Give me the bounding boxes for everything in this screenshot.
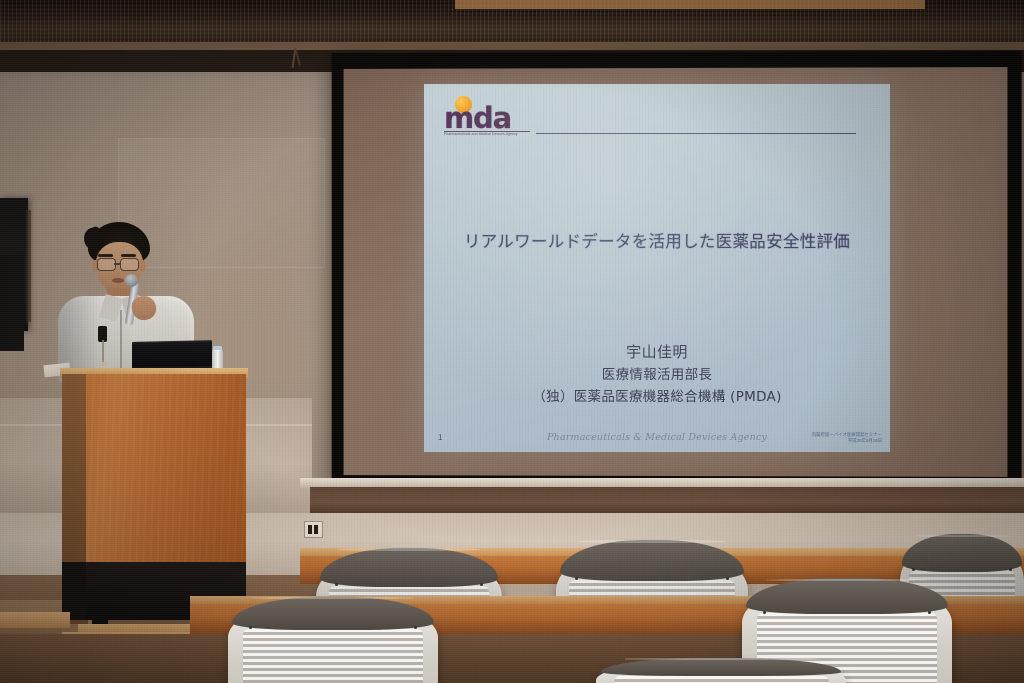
wall-speaker-edge — [26, 210, 31, 322]
side-table-top — [0, 612, 70, 628]
slide-footer-note: 内閣府第一バイオ医療開発セミナー 平成30年9月18日 — [812, 432, 882, 444]
ceiling-acoustic-panel — [0, 0, 1024, 42]
wall-outlet-icon — [304, 521, 323, 538]
slide-footer: 1 Pharmaceuticals & Medical Devices Agen… — [424, 424, 890, 446]
presentation-slide: mda Pharmaceuticals and Medical Devices … — [424, 84, 890, 452]
presenter-name: 宇山佳明 — [424, 340, 890, 364]
eyeglasses-lens-left-icon — [97, 258, 116, 271]
slide-presenter-block: 宇山佳明 医療情報活用部長 （独）医薬品医療機器総合機構 (PMDA) — [424, 340, 890, 408]
screenshot-root: mda Pharmaceuticals and Medical Devices … — [0, 0, 1024, 683]
audience-chair — [596, 660, 846, 683]
audience-chair — [228, 600, 438, 683]
presenter-ear-right — [139, 260, 146, 272]
ceiling-hook-icon — [288, 48, 302, 68]
pmda-logo-tagline: Pharmaceuticals and Medical Devices Agen… — [444, 132, 530, 137]
wall-speaker-lower-box — [0, 255, 24, 351]
ceiling-lip — [0, 42, 1024, 50]
slide-header-rule — [536, 133, 856, 134]
podium-front-panel — [86, 374, 246, 562]
presenter-role: 医療情報活用部長 — [424, 364, 890, 386]
slide-footer-note-line2: 平成30年9月18日 — [812, 438, 882, 444]
eyeglasses-bridge-icon — [114, 263, 120, 265]
presenter-brow-right — [121, 254, 136, 257]
wall-dark-band — [310, 487, 1024, 513]
podium-lectern — [62, 368, 246, 633]
podium-wood-grain — [86, 374, 246, 562]
podium-laptop-screen — [132, 340, 212, 371]
presenter-brow-left — [98, 254, 113, 257]
slide-title: リアルワールドデータを活用した医薬品安全性評価 — [424, 228, 890, 252]
eyeglasses-lens-right-icon — [120, 258, 139, 271]
presenter-mouth — [112, 278, 124, 283]
pmda-wordmark: mda — [444, 104, 511, 133]
ceiling-light-strip — [455, 0, 925, 9]
presenter-organization: （独）医薬品医療機器総合機構 (PMDA) — [424, 386, 890, 408]
pmda-logo: mda Pharmaceuticals and Medical Devices … — [444, 96, 540, 136]
